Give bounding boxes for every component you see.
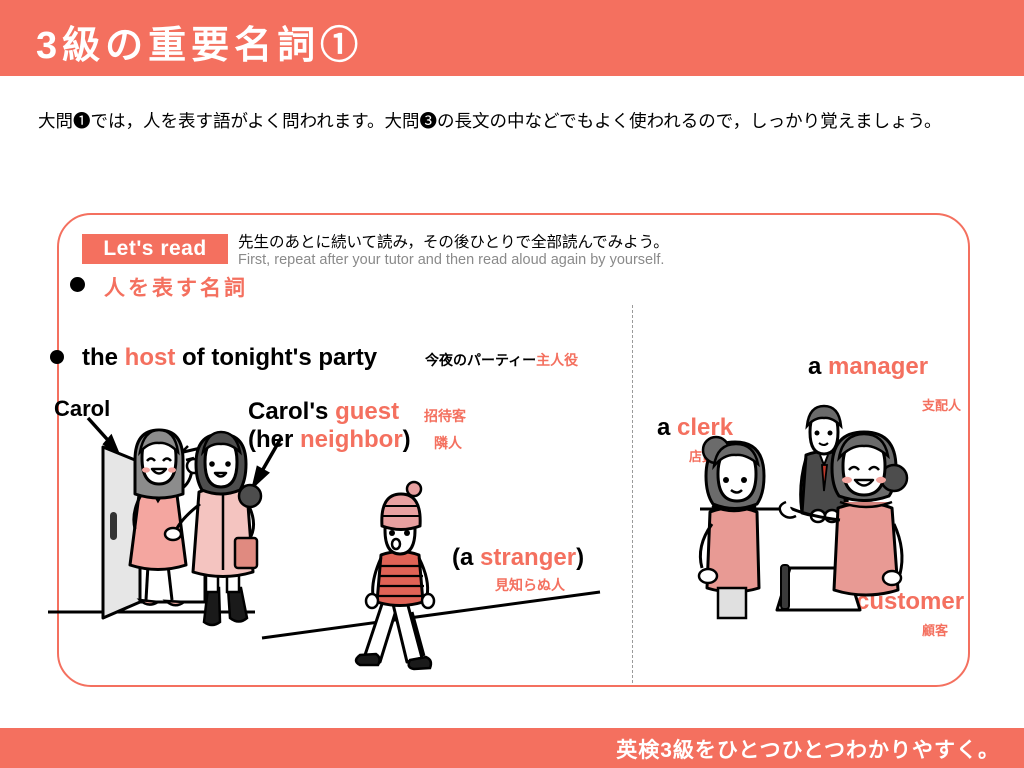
instruction-english: First, repeat after your tutor and then … [238,252,664,268]
label-neighbor: (her neighbor) [248,426,411,454]
label-stranger-prefix: (a [452,544,480,571]
phrase-host: the host of tonight's party [82,344,377,372]
label-guest-prefix: Carol's [248,398,335,425]
phrase-gloss-plain: 今夜のパーティー [425,352,536,368]
gloss-neighbor: 隣人 [434,433,462,453]
instruction-japanese: 先生のあとに続いて読み，その後ひとりで全部読んでみよう。 [238,230,669,252]
label-clerk-prefix: a [657,414,677,441]
scene-divider [632,305,633,683]
label-manager-keyword: manager [828,353,928,380]
label-neighbor-prefix: (her [248,426,300,453]
label-guest: Carol's guest [248,398,399,426]
label-neighbor-keyword: neighbor [300,426,403,453]
phrase-bullet-icon [50,350,64,364]
gloss-clerk: 店員 [689,446,715,465]
label-manager: a manager [808,353,928,381]
section-heading: 人を表す名詞 [104,272,248,302]
label-customer: a customer [836,588,964,616]
gloss-customer: 顧客 [922,620,948,639]
gloss-guest: 招待客 [424,406,466,426]
intro-paragraph: 大問❶では，人を表す語がよく問われます。大問❸の長文の中などでもよく使われるので… [38,104,993,139]
label-clerk: a clerk [657,414,733,442]
label-guest-keyword: guest [335,398,399,425]
label-customer-keyword: customer [856,588,964,615]
page-title: 3級の重要名詞① [36,14,363,69]
section-bullet-icon [70,277,85,292]
label-carol: Carol [54,396,110,422]
gloss-stranger: 見知らぬ人 [495,575,565,595]
phrase-suffix: of tonight's party [175,344,377,371]
lets-read-badge: Let's read [82,234,228,264]
phrase-keyword: host [125,344,176,371]
gloss-manager: 支配人 [922,395,961,414]
phrase-prefix: the [82,344,125,371]
phrase-gloss: 今夜のパーティー主人役 [425,350,578,370]
label-manager-prefix: a [808,353,828,380]
phrase-gloss-highlight: 主人役 [536,352,578,368]
footer-text: 英検3級をひとつひとつわかりやすく。 [616,734,1000,764]
label-neighbor-suffix: ) [403,426,411,453]
label-clerk-keyword: clerk [677,414,733,441]
label-stranger-suffix: ) [576,544,584,571]
label-stranger-keyword: stranger [480,544,576,571]
label-stranger: (a stranger) [452,544,584,572]
label-customer-prefix: a [836,588,856,615]
